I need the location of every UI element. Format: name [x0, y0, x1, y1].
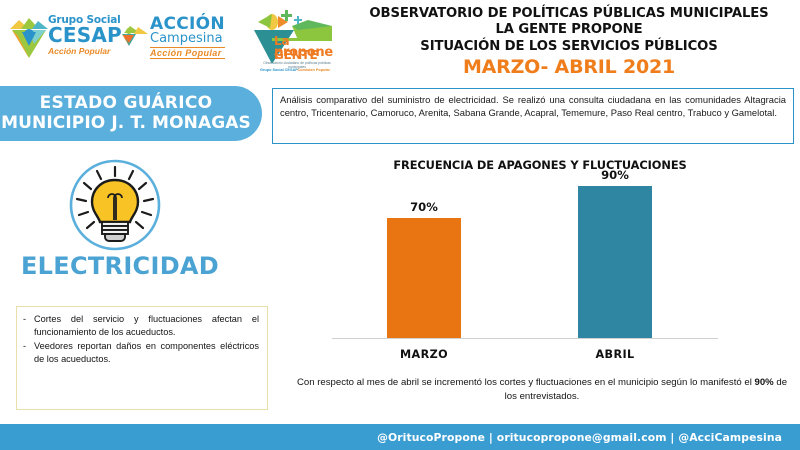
- header-line-2: LA GENTE PROPONE: [340, 22, 798, 38]
- bullet-dash: -: [23, 340, 34, 367]
- accion-campesina-icon: [120, 24, 150, 48]
- bar-value-abril: 90%: [578, 168, 652, 182]
- accion-line2: Campesina: [150, 32, 225, 45]
- cesap-tagline: Acción Popular: [48, 46, 122, 56]
- list-item: - Veedores reportan daños en componentes…: [23, 340, 259, 367]
- footer-bar: @OritucoPropone | oritucopropone@gmail.c…: [0, 424, 800, 450]
- header-date-range: MARZO- ABRIL 2021: [340, 56, 798, 80]
- caption-highlight: 90%: [755, 377, 774, 388]
- description-box: Análisis comparativo del suministro de e…: [272, 88, 794, 144]
- header-title-block: OBSERVATORIO DE POLÍTICAS PÚBLICAS MUNIC…: [340, 6, 798, 80]
- bar-abril: [578, 186, 652, 338]
- electricity-icon-wrapper: [62, 158, 168, 252]
- chart-caption: Con respecto al mes de abril se incremen…: [292, 376, 792, 404]
- lgp-footer-right: Comisión Popular: [298, 68, 331, 72]
- lgp-footer-left: Grupo Social CESAP: [260, 68, 298, 72]
- bullet-dash: -: [23, 313, 34, 340]
- electricity-label: ELECTRICIDAD: [0, 252, 240, 280]
- infographic-page: Grupo Social CESAP Acción Popular ACCIÓN…: [0, 0, 800, 450]
- accion-campesina-wordmark: ACCIÓN Campesina Acción Popular: [150, 16, 225, 59]
- footer-contact-text: @OritucoPropone | oritucopropone@gmail.c…: [377, 431, 782, 444]
- bullet-text: Veedores reportan daños en componentes e…: [34, 340, 259, 367]
- bar-label-marzo: MARZO: [387, 348, 461, 361]
- description-text: Análisis comparativo del suministro de e…: [280, 93, 786, 120]
- logo-la-gente-propone: La GENTE propone Observatorio ciudadano …: [248, 6, 336, 76]
- location-municipality: MUNICIPIO J. T. MONAGAS: [1, 114, 251, 133]
- bar-value-marzo: 70%: [387, 200, 461, 214]
- cesap-line2: CESAP: [48, 26, 122, 45]
- cesap-triangle-icon: [8, 16, 50, 60]
- list-item: - Cortes del servicio y fluctuaciones af…: [23, 313, 259, 340]
- chart-x-axis-line: [332, 338, 718, 339]
- logo-grupo-social-cesap: Grupo Social CESAP Acción Popular: [8, 14, 118, 66]
- bullet-text: Cortes del servicio y fluctuaciones afec…: [34, 313, 259, 340]
- header-line-3: SITUACIÓN DE LOS SERVICIOS PÚBLICOS: [340, 39, 798, 55]
- cesap-wordmark: Grupo Social CESAP Acción Popular: [48, 14, 122, 56]
- logo-strip: Grupo Social CESAP Acción Popular ACCIÓN…: [0, 0, 340, 82]
- location-state: ESTADO GUÁRICO: [40, 94, 213, 113]
- location-banner: ESTADO GUÁRICO MUNICIPIO J. T. MONAGAS: [0, 86, 262, 141]
- caption-part1: Con respecto al mes de abril se incremen…: [297, 377, 755, 388]
- lgp-line2: propone: [274, 45, 333, 60]
- bar-label-abril: ABRIL: [578, 348, 652, 361]
- bar-marzo: [387, 218, 461, 338]
- header-line-1: OBSERVATORIO DE POLÍTICAS PÚBLICAS MUNIC…: [340, 6, 798, 22]
- findings-box: - Cortes del servicio y fluctuaciones af…: [16, 306, 268, 410]
- logo-accion-campesina: ACCIÓN Campesina Acción Popular: [120, 16, 240, 66]
- accion-tagline: Acción Popular: [150, 47, 225, 59]
- bar-chart: FRECUENCIA DE APAGONES Y FLUCTUACIONES 7…: [330, 158, 798, 370]
- lightbulb-icon: [62, 158, 168, 252]
